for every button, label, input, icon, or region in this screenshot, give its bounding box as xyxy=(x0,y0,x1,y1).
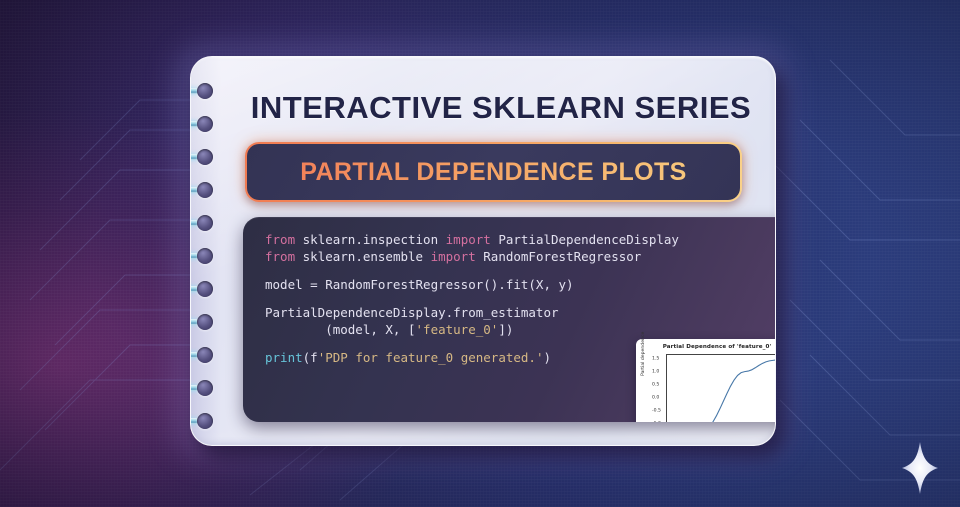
code-token: (f xyxy=(303,350,318,365)
chart-ytick-label: 1.0 xyxy=(652,369,659,374)
code-token: from xyxy=(265,249,303,264)
partial-dependence-chart-card: Partial Dependence of 'feature_0' Partia… xyxy=(636,339,776,422)
subtitle-badge: PARTIAL DEPENDENCE PLOTS xyxy=(245,142,742,202)
spiral-ring xyxy=(190,215,225,231)
subtitle-badge-inner: PARTIAL DEPENDENCE PLOTS xyxy=(247,144,740,200)
subtitle-text: PARTIAL DEPENDENCE PLOTS xyxy=(300,158,687,187)
chart-ytick-label: -0.5 xyxy=(652,409,661,414)
chart-ytick-label: 1.5 xyxy=(652,356,659,361)
code-token: sklearn.ensemble xyxy=(303,249,431,264)
chart-ytick-label: 0.5 xyxy=(652,382,659,387)
spiral-ring xyxy=(190,380,225,396)
spiral-binding xyxy=(190,57,225,445)
chart-line-svg xyxy=(667,355,776,422)
code-line: from sklearn.ensemble import RandomFores… xyxy=(265,248,679,265)
notebook-body: INTERACTIVE SKLEARN SERIES PARTIAL DEPEN… xyxy=(190,56,776,446)
code-token: model = RandomForestRegressor().fit(X, y… xyxy=(265,277,574,292)
code-blank-line xyxy=(265,265,679,276)
spiral-ring-hole xyxy=(197,116,213,132)
spiral-ring xyxy=(190,314,225,330)
code-token: print xyxy=(265,350,303,365)
spiral-ring xyxy=(190,248,225,264)
spiral-ring-hole xyxy=(197,380,213,396)
spiral-ring-hole xyxy=(197,281,213,297)
notebook-content: INTERACTIVE SKLEARN SERIES PARTIAL DEPEN… xyxy=(243,57,759,445)
sparkle-star-icon xyxy=(893,440,947,496)
code-token: RandomForestRegressor xyxy=(483,249,641,264)
code-token: PartialDependenceDisplay xyxy=(498,232,679,247)
code-token: ) xyxy=(543,350,551,365)
code-line: (model, X, ['feature_0']) xyxy=(265,321,679,338)
spiral-ring-hole xyxy=(197,347,213,363)
code-line: model = RandomForestRegressor().fit(X, y… xyxy=(265,276,679,293)
code-blank-line xyxy=(265,338,679,349)
spiral-ring-hole xyxy=(197,314,213,330)
code-token: PartialDependenceDisplay.from_estimator xyxy=(265,305,559,320)
code-token: ]) xyxy=(498,322,513,337)
spiral-ring-hole xyxy=(197,413,213,429)
spiral-ring-hole xyxy=(197,182,213,198)
page-title: INTERACTIVE SKLEARN SERIES xyxy=(243,90,759,126)
code-token: 'PDP for feature_0 generated.' xyxy=(318,350,544,365)
spiral-ring-hole xyxy=(197,215,213,231)
spiral-ring-hole xyxy=(197,248,213,264)
spiral-ring-hole xyxy=(197,149,213,165)
chart-line xyxy=(671,360,776,422)
spiral-ring xyxy=(190,83,225,99)
code-line: from sklearn.inspection import PartialDe… xyxy=(265,231,679,248)
chart-ytick-label: 0.0 xyxy=(652,396,659,401)
spiral-ring xyxy=(190,347,225,363)
code-token: 'feature_0' xyxy=(416,322,499,337)
code-token: (model, X, [ xyxy=(265,322,416,337)
notebook-card: INTERACTIVE SKLEARN SERIES PARTIAL DEPEN… xyxy=(190,56,776,446)
code-line: PartialDependenceDisplay.from_estimator xyxy=(265,304,679,321)
spiral-ring xyxy=(190,182,225,198)
code-block: from sklearn.inspection import PartialDe… xyxy=(265,231,679,366)
spiral-ring xyxy=(190,413,225,429)
chart-plot-area: Partial dependence -1.0-0.50.00.51.01.5 … xyxy=(640,350,776,422)
code-panel: from sklearn.inspection import PartialDe… xyxy=(243,217,776,422)
code-blank-line xyxy=(265,293,679,304)
code-token: from xyxy=(265,232,303,247)
code-line: print(f'PDP for feature_0 generated.') xyxy=(265,349,679,366)
spiral-ring-hole xyxy=(197,83,213,99)
spiral-ring xyxy=(190,149,225,165)
chart-ylabel: Partial dependence xyxy=(641,332,646,376)
spiral-ring xyxy=(190,116,225,132)
code-token: sklearn.inspection xyxy=(303,232,446,247)
chart-axes xyxy=(666,354,776,422)
code-token: import xyxy=(446,232,499,247)
code-token: import xyxy=(431,249,484,264)
spiral-ring xyxy=(190,281,225,297)
